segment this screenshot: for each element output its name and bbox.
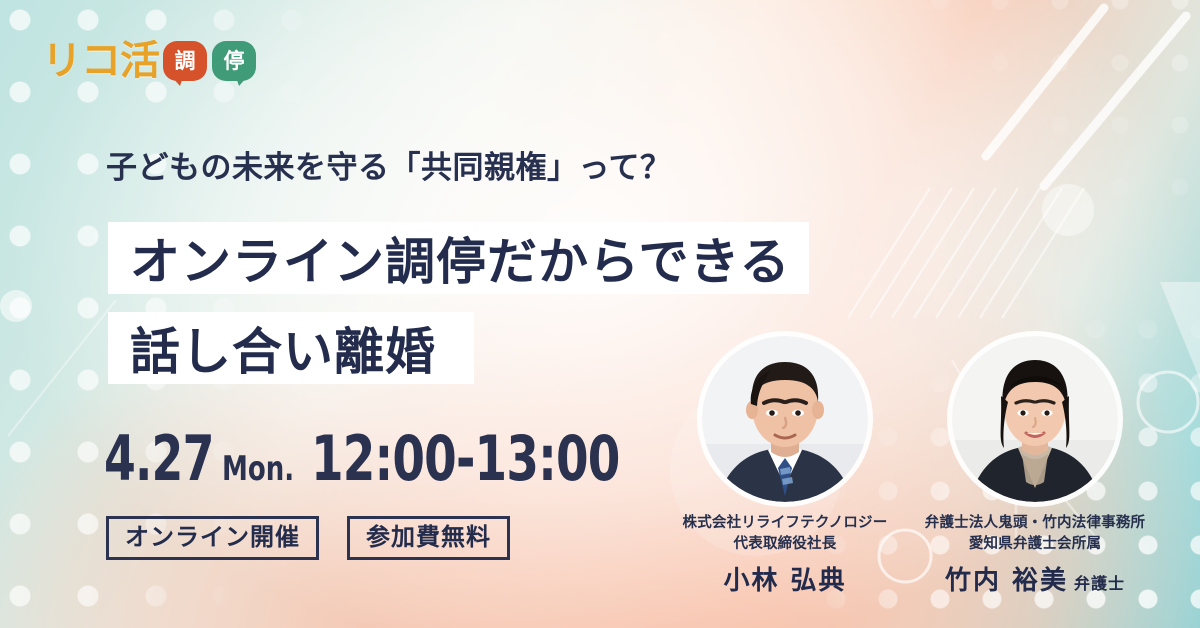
brand-logo[interactable]: リコ活 調 停 (42, 30, 256, 92)
event-time-range: 12:00-13:00 (311, 422, 620, 495)
speaker-org-line2: 愛知県弁護士会所属 (925, 534, 1146, 555)
logo-bubble-cho-icon: 調 (163, 41, 207, 81)
avatar-takeuchi (952, 336, 1118, 502)
event-subtitle: 子どもの未来を守る「共同親権」って？ (106, 150, 671, 187)
event-banner: リコ活 調 停 子どもの未来を守る「共同親権」って？ オンライン調停だからできる… (0, 0, 1200, 628)
speaker-card-kobayashi: 株式会社リライフテクノロジー 代表取締役社長 小林 弘典 (660, 336, 910, 597)
speaker-name-text: 小林 弘典 (723, 560, 846, 597)
speaker-org-line1: 株式会社リライフテクノロジー (683, 513, 888, 534)
speaker-card-takeuchi: 弁護士法人鬼頭・竹内法律事務所 愛知県弁護士会所属 竹内 裕美 弁護士 (910, 336, 1160, 597)
speaker-name-kobayashi: 小林 弘典 (723, 560, 846, 597)
speaker-org-takeuchi: 弁護士法人鬼頭・竹内法律事務所 愛知県弁護士会所属 (925, 513, 1146, 555)
logo-wordmark: リコ活 (42, 41, 159, 81)
event-title-line-2: 話し合い離婚 (108, 312, 474, 384)
speaker-org-line2: 代表取締役社長 (683, 534, 888, 555)
event-date: 4.27 (104, 422, 214, 495)
badge-free-admission: 参加費無料 (347, 516, 510, 560)
dot-pattern-top-right-decoration (910, 0, 1200, 230)
speaker-list: 株式会社リライフテクノロジー 代表取締役社長 小林 弘典 (660, 336, 1180, 597)
logo-bubble-cho-label: 調 (175, 51, 196, 72)
speaker-name-takeuchi: 竹内 裕美 弁護士 (945, 560, 1125, 597)
event-datetime: 4.27 Mon. 12:00-13:00 (104, 422, 678, 495)
speaker-name-text: 竹内 裕美 (945, 560, 1068, 597)
event-title-line-1: オンライン調停だからできる (108, 222, 809, 294)
speaker-org-kobayashi: 株式会社リライフテクノロジー 代表取締役社長 (683, 513, 888, 555)
speaker-org-line1: 弁護士法人鬼頭・竹内法律事務所 (925, 513, 1146, 534)
logo-bubble-tei-icon: 停 (212, 41, 256, 81)
speaker-title-suffix: 弁護士 (1074, 570, 1125, 594)
logo-bubble-tei-label: 停 (224, 51, 245, 72)
avatar-kobayashi (702, 336, 868, 502)
event-day-of-week: Mon. (222, 449, 294, 489)
event-badges: オンライン開催 参加費無料 (106, 516, 510, 560)
badge-online-event: オンライン開催 (106, 516, 319, 560)
